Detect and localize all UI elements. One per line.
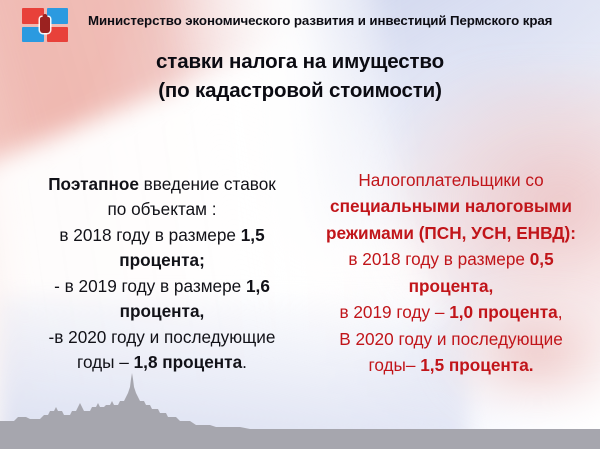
right-line-r7: В 2020 году и последующие	[312, 327, 590, 351]
left-line-l8: годы – 1,8 процента.	[18, 350, 306, 374]
left-line-l1-text: введение ставок	[139, 174, 276, 194]
ministry-title: Министерство экономического развития и и…	[88, 13, 580, 29]
page-title: ставки налога на имущество (по кадастров…	[50, 47, 550, 105]
left-line-l6-strong: процента,	[120, 301, 205, 321]
right-line-r7-text: В 2020 году и последующие	[339, 329, 563, 349]
right-line-r8-strong: 1,5 процента.	[420, 355, 533, 375]
left-line-l8-strong: 1,8 процента	[134, 352, 243, 372]
coat-of-arms-icon	[40, 17, 50, 33]
left-line-l1: Поэтапное введение ставок	[18, 172, 306, 196]
ministry-logo-icon	[22, 8, 68, 42]
slide-root: Министерство экономического развития и и…	[0, 0, 600, 449]
right-line-r2-strong: специальными налоговыми	[330, 196, 572, 216]
right-line-r6: в 2019 году – 1,0 процента,	[312, 300, 590, 324]
city-skyline-icon	[0, 371, 600, 449]
right-line-r4: в 2018 году в размере 0,5	[312, 247, 590, 271]
left-line-l1-strong: Поэтапное	[48, 174, 139, 194]
right-line-r6-text: в 2019 году –	[339, 302, 449, 322]
left-line-l7: -в 2020 году и последующие	[18, 325, 306, 349]
page-title-line-1: ставки налога на имущество	[50, 47, 550, 76]
right-line-r5: процента,	[312, 274, 590, 298]
left-line-l2: по объектам :	[18, 197, 306, 221]
right-line-r8: годы– 1,5 процента.	[312, 353, 590, 377]
right-line-r3: режимами (ПСН, УСН, ЕНВД):	[312, 221, 590, 245]
left-line-l2-text: по объектам :	[107, 199, 216, 219]
left-line-l3-text: в 2018 году в размере	[59, 225, 240, 245]
right-line-r1-text: Налогоплательщики со	[358, 170, 543, 190]
right-line-r4-strong: 0,5	[530, 249, 554, 269]
left-line-l7-text: -в 2020 году и последующие	[49, 327, 276, 347]
left-line-l5-strong: 1,6	[246, 276, 270, 296]
left-line-l4: процента;	[18, 248, 306, 272]
right-line-r6-text: ,	[558, 302, 563, 322]
right-line-r5-strong: процента,	[409, 276, 494, 296]
left-line-l8-text: годы –	[77, 352, 134, 372]
page-title-line-2: (по кадастровой стоимости)	[50, 76, 550, 105]
right-line-r6-strong: 1,0 процента	[449, 302, 558, 322]
left-line-l5: - в 2019 году в размере 1,6	[18, 274, 306, 298]
right-line-r2: специальными налоговыми	[312, 194, 590, 218]
right-line-r3-strong: режимами (ПСН, УСН, ЕНВД):	[326, 223, 576, 243]
right-line-r8-text: годы–	[368, 355, 420, 375]
right-line-r1: Налогоплательщики со	[312, 168, 590, 192]
header-bar: Министерство экономического развития и и…	[0, 0, 600, 42]
left-line-l3: в 2018 году в размере 1,5	[18, 223, 306, 247]
left-text-column: Поэтапное введение ставокпо объектам :в …	[18, 172, 306, 375]
left-line-l3-strong: 1,5	[241, 225, 265, 245]
left-line-l4-strong: процента;	[119, 250, 205, 270]
right-line-r4-text: в 2018 году в размере	[348, 249, 529, 269]
left-line-l5-text: - в 2019 году в размере	[54, 276, 246, 296]
right-text-column: Налогоплательщики соспециальными налогов…	[312, 168, 590, 379]
left-line-l6: процента,	[18, 299, 306, 323]
left-line-l8-text: .	[242, 352, 247, 372]
